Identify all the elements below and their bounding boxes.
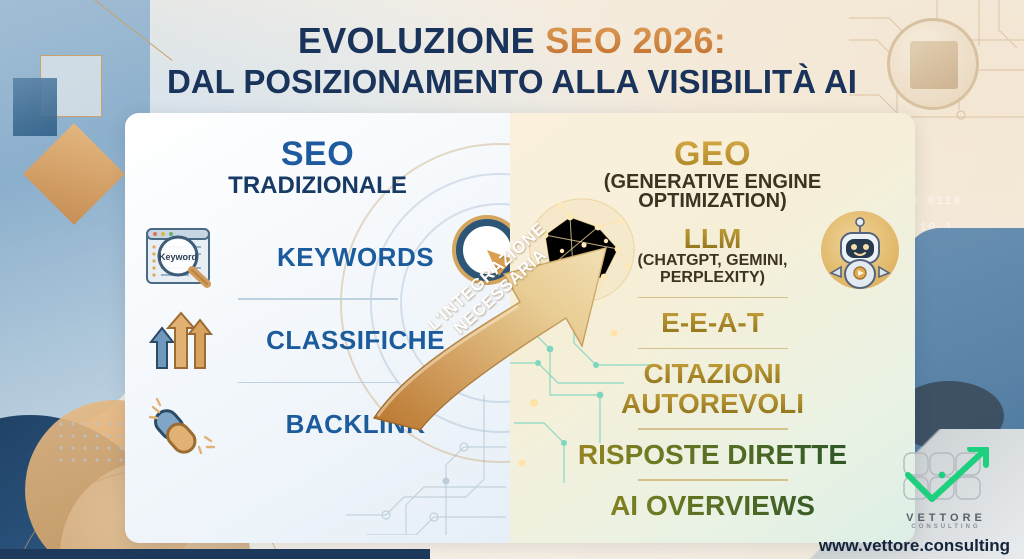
website-url[interactable]: www.vettore.consulting <box>819 536 1010 556</box>
list-item-label: KEYWORDS <box>225 242 510 273</box>
panel-geo: GEO (GENERATIVE ENGINE OPTIMIZATION) <box>510 113 915 543</box>
divider <box>638 428 788 430</box>
panel-seo-tradizionale: SEO TRADIZIONALE Keyword <box>125 113 510 543</box>
list-item-label: AI OVERVIEWS <box>528 491 897 520</box>
list-item-eeat[interactable]: E-E-A-T <box>510 304 915 341</box>
divider <box>638 348 788 350</box>
geo-heading-sub-2: OPTIMIZATION) <box>510 191 915 212</box>
logo-name: VETTORE <box>890 512 1002 524</box>
magnifier-browser-icon: Keyword <box>139 226 225 288</box>
list-item-label: BACKLINK <box>225 409 510 440</box>
list-item-label: E-E-A-T <box>528 308 897 337</box>
list-item-citazioni[interactable]: CITAZIONI AUTOREVOLI <box>510 355 915 422</box>
list-item-keywords[interactable]: Keyword KEYWORDS <box>125 216 510 298</box>
decor-bottom-strip <box>0 549 430 559</box>
divider <box>638 297 788 299</box>
geo-heading-main: GEO <box>510 135 915 174</box>
seo-feature-list: Keyword KEYWORDS <box>125 216 510 465</box>
title-line1-primary: EVOLUZIONE <box>298 20 545 61</box>
title-line2: DAL POSIZIONAMENTO ALLA VISIBILITÀ AI <box>0 64 1024 100</box>
seo-heading-block: SEO TRADIZIONALE <box>125 113 510 200</box>
list-item-label-2: AUTOREVOLI <box>528 389 897 418</box>
list-item-backlink[interactable]: BACKLINK <box>125 383 510 465</box>
logo-subtitle: CONSULTING <box>890 524 1002 530</box>
magnifier-label: Keyword <box>159 252 197 262</box>
chain-link-icon <box>139 393 225 455</box>
vettore-checkmark-logo-icon <box>890 447 1002 511</box>
seo-heading-main: SEO <box>125 135 510 174</box>
list-item-label: CITAZIONI <box>528 359 897 388</box>
robot-glyph <box>821 211 899 289</box>
geo-heading-block: GEO (GENERATIVE ENGINE OPTIMIZATION) <box>510 113 915 212</box>
seo-heading-sub: TRADIZIONALE <box>125 172 510 200</box>
vettore-logo[interactable]: VETTORE CONSULTING <box>890 447 1002 531</box>
list-item-classifiche[interactable]: CLASSIFICHE <box>125 300 510 382</box>
list-item-label: RISPOSTE DIRETTE <box>528 440 897 469</box>
list-item-ai-overviews[interactable]: AI OVERVIEWS <box>510 487 915 524</box>
comparison-panels: SEO TRADIZIONALE Keyword <box>125 113 915 543</box>
divider <box>638 479 788 481</box>
ai-robot-icon <box>821 211 899 289</box>
growth-arrows-icon <box>139 310 225 372</box>
infographic-canvas: 010 0110 011 10 1 000 10 0101100 010 110… <box>0 0 1024 559</box>
title-line1-accent: SEO 2026: <box>545 20 726 61</box>
list-item-risposte-dirette[interactable]: RISPOSTE DIRETTE <box>510 436 915 473</box>
list-item-label: CLASSIFICHE <box>225 325 510 356</box>
page-title: EVOLUZIONE SEO 2026: DAL POSIZIONAMENTO … <box>0 22 1024 100</box>
